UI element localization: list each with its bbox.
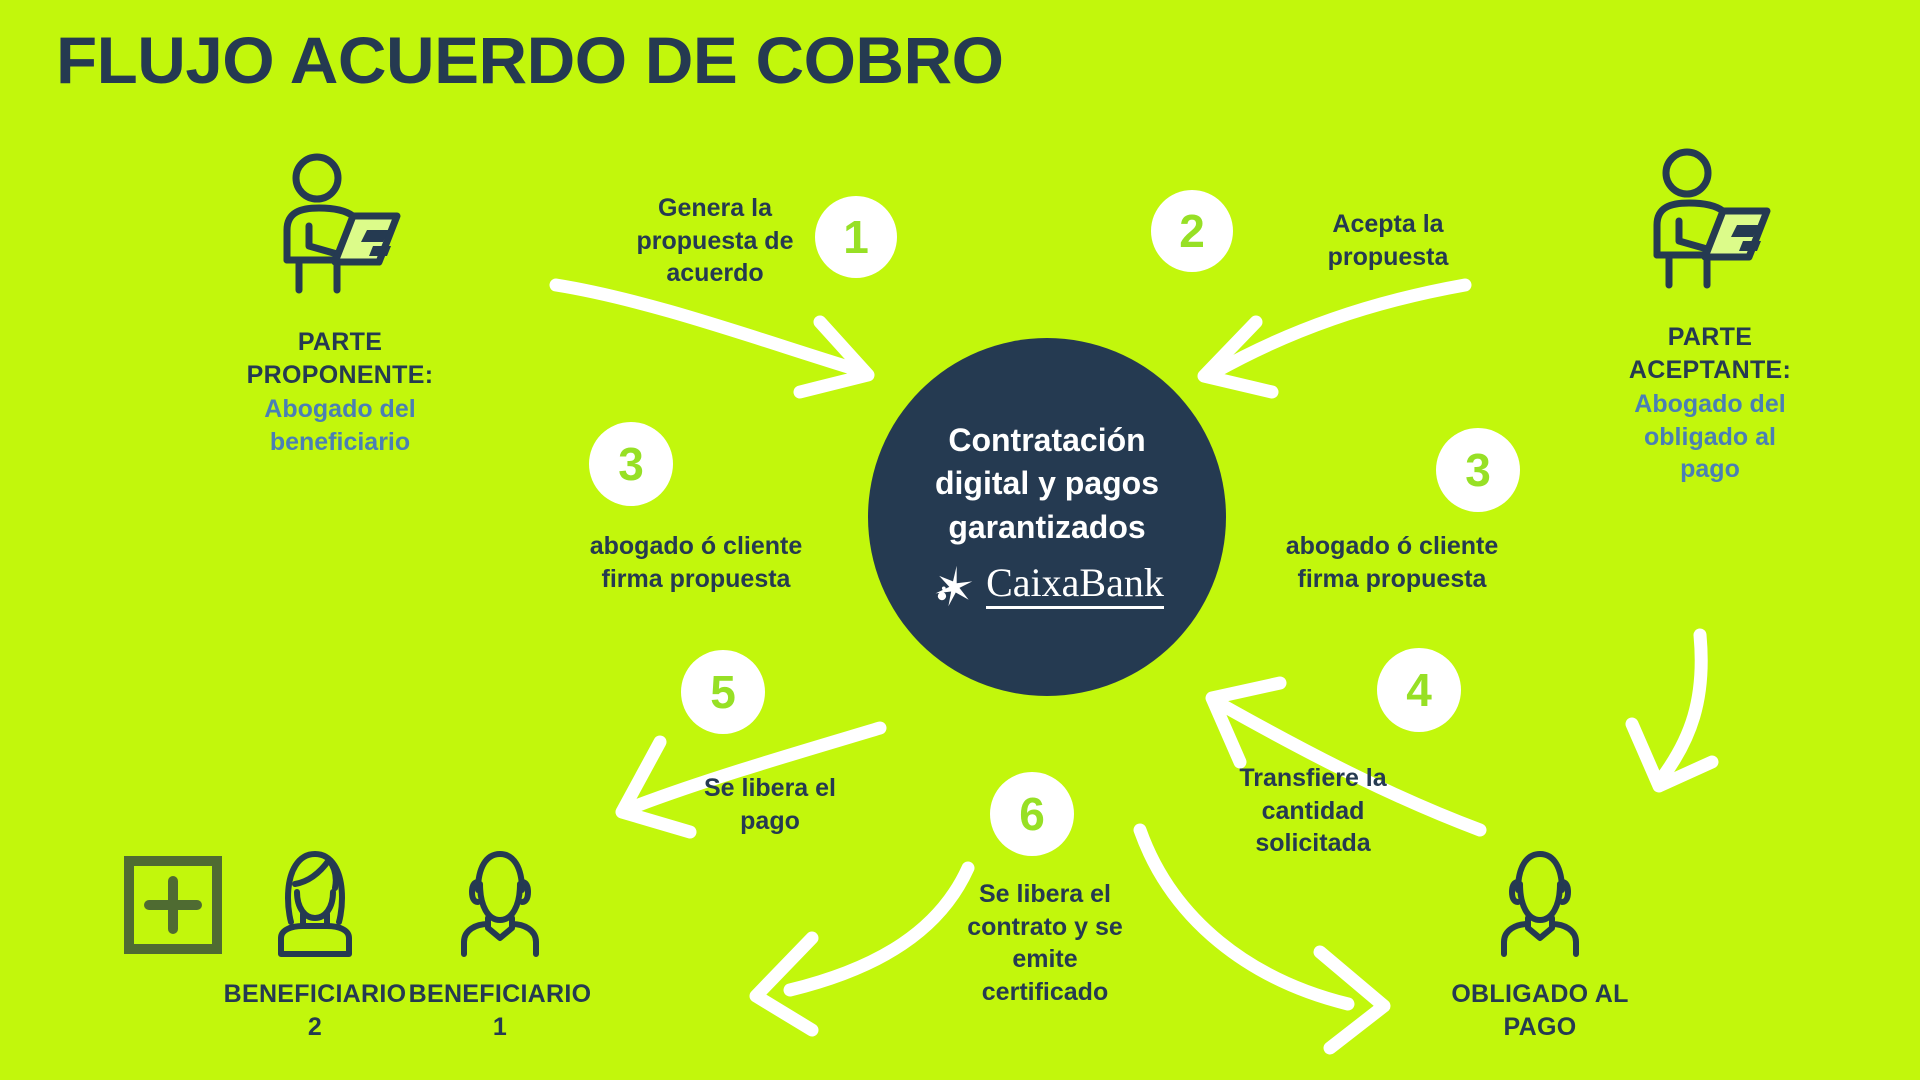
aceptante-sub-line-1: Abogado del [1634,388,1785,421]
center-hub: Contratación digital y pagos garantizado… [868,338,1226,696]
actor-parte-proponente: PARTE PROPONENTE: Abogado del beneficiar… [190,150,490,458]
aceptante-role-line-2: ACEPTANTE: [1629,354,1791,387]
aceptante-sub-line-2: obligado al [1634,421,1785,454]
arrow-step-2 [1204,285,1465,392]
step-badge-6: 6 [990,772,1074,856]
caixabank-wordmark: CaixaBank [986,563,1164,609]
beneficiario-2-label-line-2: 2 [224,1011,407,1044]
plus-box-icon[interactable] [123,855,223,955]
step-6-line-3: emite [940,943,1150,976]
actor-beneficiario-2: BENEFICIARIO 2 [215,840,415,1043]
proponente-role-line-1: PARTE [247,326,434,359]
step-6-line-1: Se libera el [940,878,1150,911]
step-badge-5: 5 [681,650,765,734]
proponente-role-line-2: PROPONENTE: [247,359,434,392]
proponente-sub-line-1: Abogado del [264,393,415,426]
step-3-right-line-2: firma propuesta [1262,563,1522,596]
actor-beneficiario-1: BENEFICIARIO 1 [400,840,600,1043]
step-6-line-2: contrato y se [940,911,1150,944]
step-badge-3-left: 3 [589,422,673,506]
hub-line-3: garantizados [917,506,1177,550]
aceptante-role-line-1: PARTE [1629,321,1791,354]
step-5-line-1: Se libera el [650,772,890,805]
caixabank-star-icon [930,563,976,609]
hub-text: Contratación digital y pagos garantizado… [917,419,1177,550]
step-badge-3-right: 3 [1436,428,1520,512]
step-badge-2: 2 [1151,190,1233,272]
male-avatar-icon [440,840,560,960]
step-badge-1: 1 [815,196,897,278]
person-at-desk-icon [275,150,405,300]
hub-line-2: digital y pagos [917,462,1177,506]
step-caption-2: Acepta la propuesta [1268,208,1508,273]
step-3-left-line-1: abogado ó cliente [566,530,826,563]
step-caption-3-left: abogado ó cliente firma propuesta [566,530,826,595]
step-3-left-line-2: firma propuesta [566,563,826,596]
arrow-step-6-left [756,868,968,1030]
beneficiario-1-label-line-1: BENEFICIARIO [409,978,592,1011]
male-avatar-icon [1480,840,1600,960]
obligado-label-line-1: OBLIGADO AL [1451,978,1628,1011]
arrow-step-6-right [1140,830,1384,1048]
hub-line-1: Contratación [917,419,1177,463]
actor-obligado-al-pago: OBLIGADO AL PAGO [1420,840,1660,1043]
step-caption-5: Se libera el pago [650,772,890,837]
step-caption-3-right: abogado ó cliente firma propuesta [1262,530,1522,595]
step-1-line-1: Genera la [585,192,845,225]
step-4-line-2: cantidad [1198,795,1428,828]
step-6-line-4: certificado [940,976,1150,1009]
step-1-line-2: propuesta de [585,225,845,258]
step-2-line-1: Acepta la [1268,208,1508,241]
step-4-line-3: solicitada [1198,827,1428,860]
beneficiario-1-label-line-2: 1 [409,1011,592,1044]
proponente-sub-line-2: beneficiario [264,426,415,459]
infographic-canvas: FLUJO ACUERDO DE COBRO [0,0,1920,1080]
actor-parte-aceptante: PARTE ACEPTANTE: Abogado del obligado al… [1560,145,1860,486]
aceptante-sub-line-3: pago [1634,453,1785,486]
obligado-label-line-2: PAGO [1451,1011,1628,1044]
step-3-right-line-1: abogado ó cliente [1262,530,1522,563]
step-badge-4: 4 [1377,648,1461,732]
step-4-line-1: Transfiere la [1198,762,1428,795]
arrow-aceptante-to-obligado [1632,635,1712,786]
actor-add-beneficiary[interactable] [118,855,228,955]
caixabank-logo: CaixaBank [930,563,1164,609]
arrow-step-1 [556,285,868,392]
step-1-line-3: acuerdo [585,257,845,290]
step-caption-6: Se libera el contrato y se emite certifi… [940,878,1150,1008]
person-at-desk-icon [1645,145,1775,295]
page-title: FLUJO ACUERDO DE COBRO [56,22,1004,98]
step-caption-1: Genera la propuesta de acuerdo [585,192,845,290]
step-caption-4: Transfiere la cantidad solicitada [1198,762,1428,860]
step-5-line-2: pago [650,805,890,838]
female-avatar-icon [255,840,375,960]
beneficiario-2-label-line-1: BENEFICIARIO [224,978,407,1011]
step-2-line-2: propuesta [1268,241,1508,274]
